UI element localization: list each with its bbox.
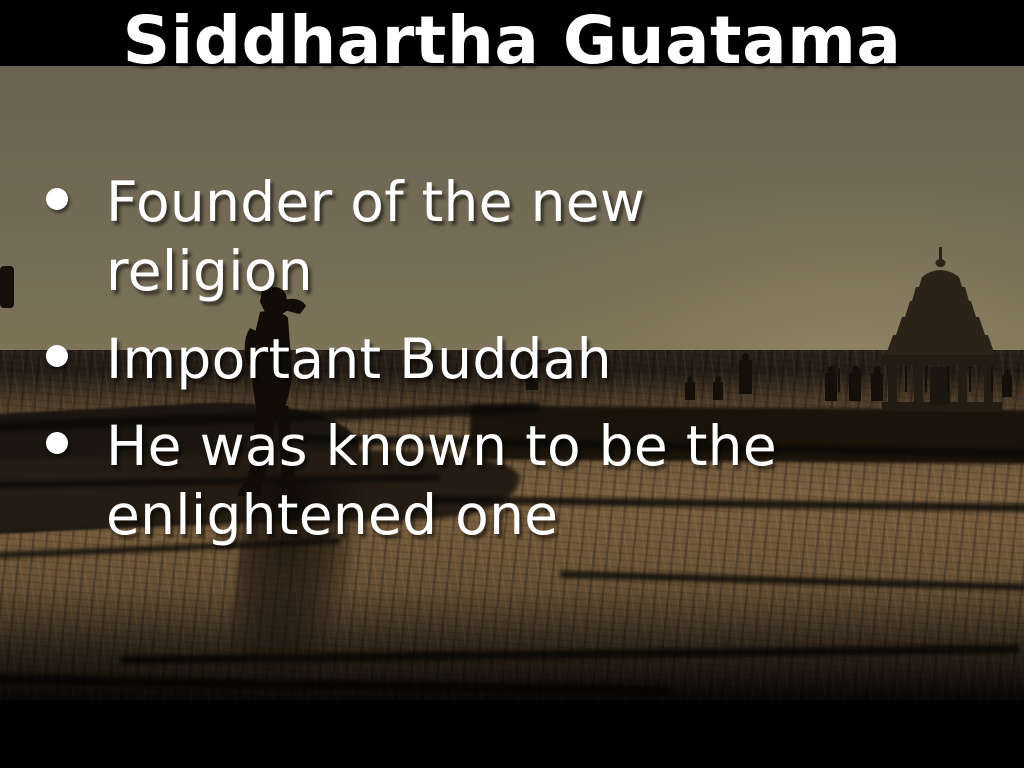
- railing-post: [991, 366, 993, 392]
- slide-title: Siddhartha Guatama: [0, 8, 1024, 74]
- bullet-dot-icon: [46, 432, 68, 454]
- presentation-slide: Siddhartha Guatama Founder of the new re…: [0, 0, 1024, 768]
- ground-shadow-band: [0, 590, 1024, 700]
- bullet-dot-icon: [46, 188, 68, 210]
- distant-person-body: [1002, 375, 1012, 397]
- bullet-item: Important Buddah: [46, 325, 976, 394]
- bullet-text: He was known to be the enlightened one: [106, 412, 861, 551]
- bullet-text: Founder of the new religion: [106, 168, 861, 307]
- bullet-item: He was known to be the enlightened one: [46, 412, 976, 551]
- bullet-text: Important Buddah: [106, 325, 861, 394]
- bullet-list: Founder of the new religion Important Bu…: [46, 168, 976, 568]
- letterbox-bar-bottom: [0, 700, 1024, 768]
- bullet-dot-icon: [46, 345, 68, 367]
- distant-rock: [0, 266, 14, 308]
- bullet-item: Founder of the new religion: [46, 168, 976, 307]
